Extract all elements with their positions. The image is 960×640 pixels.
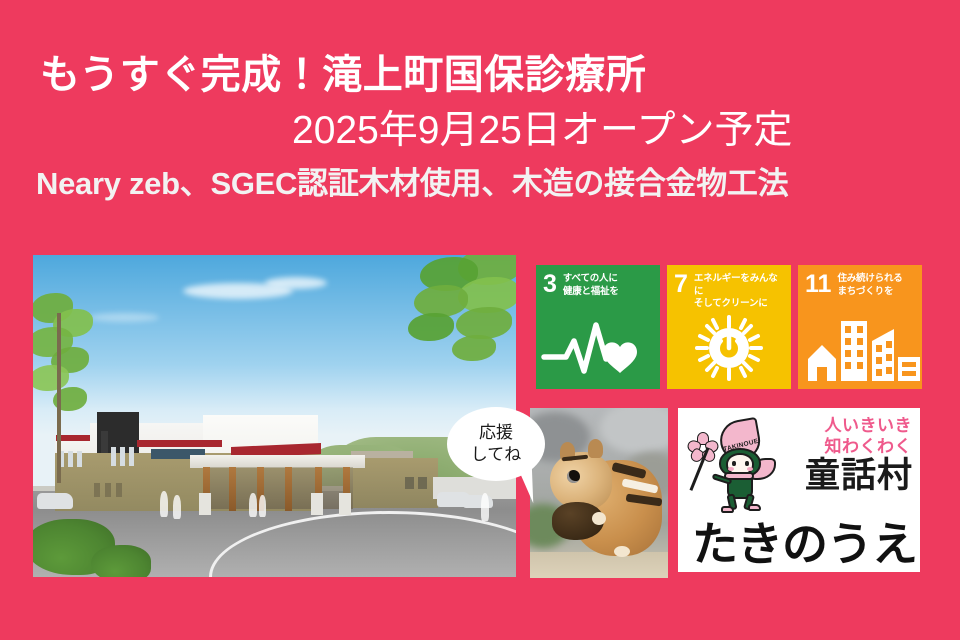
mascot-tagline-line-2: 知わくわく xyxy=(825,437,913,458)
chipmunk-ear xyxy=(588,439,603,458)
speech-bubble-line-2: してね xyxy=(471,444,522,466)
mascot-kanji-text: 童話村 xyxy=(805,458,913,493)
tree-left xyxy=(33,293,115,483)
person-silhouette xyxy=(173,495,181,519)
person-silhouette xyxy=(249,493,257,517)
sdg-number: 3 xyxy=(543,273,557,297)
speech-bubble: 応援 してね xyxy=(447,407,545,481)
sdg-card-header: 7 エネルギーをみんなに そしてクリーンに xyxy=(674,273,784,311)
sdg-number: 7 xyxy=(674,273,688,297)
chipmunk-paw xyxy=(592,512,606,525)
entrance-pillar xyxy=(339,493,351,515)
window xyxy=(418,477,427,489)
fairy-cheek xyxy=(728,467,734,471)
mascot-logo-card: TAKINOUE 人いきいき 知わくわく 童話村 たきのうえ xyxy=(678,408,920,572)
mascot-kana-text: たきのうえ xyxy=(692,521,917,567)
mascot-tagline: 人いきいき 知わくわく xyxy=(825,416,913,457)
sdg-label: エネルギーをみんなに そしてクリーンに xyxy=(694,273,784,311)
roof-accent xyxy=(137,440,222,447)
blurred-rock xyxy=(600,408,668,454)
fairy-cheek xyxy=(747,467,753,471)
headline-block: もうすぐ完成！滝上町国保診療所 2025年9月25日オープン予定 Neary z… xyxy=(0,52,960,202)
poster-canvas: もうすぐ完成！滝上町国保診療所 2025年9月25日オープン予定 Neary z… xyxy=(0,0,960,640)
speech-bubble-line-1: 応援 xyxy=(479,422,513,444)
sdg-label-line-2: そしてクリーンに xyxy=(694,298,784,311)
wood-column xyxy=(229,467,236,511)
fairy-eye xyxy=(732,461,736,466)
city-buildings-icon xyxy=(798,311,922,385)
page-subtitle: Neary zeb、SGEC認証木材使用、木造の接合金物工法 xyxy=(0,165,960,202)
sdg-card-7[interactable]: 7 エネルギーをみんなに そしてクリーンに xyxy=(667,265,791,389)
window xyxy=(116,483,122,497)
entrance-glass-facade xyxy=(203,467,353,509)
sdg-card-header: 11 住み続けられる まちづくりを xyxy=(805,273,915,298)
building-rendering-photo xyxy=(33,255,516,577)
sdg-number: 11 xyxy=(805,273,831,297)
opening-date-line: 2025年9月25日オープン予定 xyxy=(0,108,960,155)
entrance-pillar xyxy=(311,493,323,515)
sun-power-icon xyxy=(667,311,791,385)
sdg-label-line-1: エネルギーをみんなに xyxy=(694,273,784,298)
takinoue-fairy-mascot-icon: TAKINOUE xyxy=(690,418,786,514)
fairy-boot xyxy=(748,504,761,511)
sdg-card-header: 3 すべての人に 健康と福祉を xyxy=(543,273,653,298)
sdg-label-line-2: 健康と福祉を xyxy=(563,286,619,299)
mascot-tagline-line-1: 人いきいき xyxy=(825,416,913,437)
fairy-boot xyxy=(721,506,734,513)
sdg-label-line-2: まちづくりを xyxy=(837,286,902,299)
fairy-eye xyxy=(745,461,749,466)
person-silhouette xyxy=(481,493,489,521)
heartbeat-heart-icon xyxy=(536,311,660,385)
chipmunk-photo xyxy=(530,408,668,578)
window xyxy=(105,483,111,497)
sdg-label-line-1: 住み続けられる xyxy=(837,273,902,286)
window xyxy=(94,483,100,497)
sdg-card-3[interactable]: 3 すべての人に 健康と福祉を xyxy=(536,265,660,389)
wood-column xyxy=(285,467,292,511)
gravel-ground xyxy=(530,552,668,578)
entrance-pillar xyxy=(199,493,211,515)
sdg-label-line-1: すべての人に xyxy=(563,273,619,286)
window xyxy=(120,447,125,466)
shrub xyxy=(91,545,151,577)
tree-right-foliage xyxy=(356,255,516,387)
window xyxy=(129,447,134,466)
page-title: もうすぐ完成！滝上町国保診療所 xyxy=(0,52,960,99)
person-silhouette xyxy=(259,495,266,517)
sdg-card-11[interactable]: 11 住み続けられる まちづくりを xyxy=(798,265,922,389)
cloud-shape xyxy=(265,277,327,289)
person-silhouette xyxy=(160,491,168,517)
chipmunk-eye xyxy=(567,470,580,483)
sdg-icon-row: 3 すべての人に 健康と福祉を 7 エネルギーをみんなに そしてクリーンに xyxy=(536,265,922,389)
chipmunk-paw xyxy=(614,546,630,557)
car xyxy=(37,493,73,509)
sdg-label: 住み続けられる まちづくりを xyxy=(837,273,902,298)
window xyxy=(405,477,414,489)
sdg-label: すべての人に 健康と福祉を xyxy=(563,273,619,298)
